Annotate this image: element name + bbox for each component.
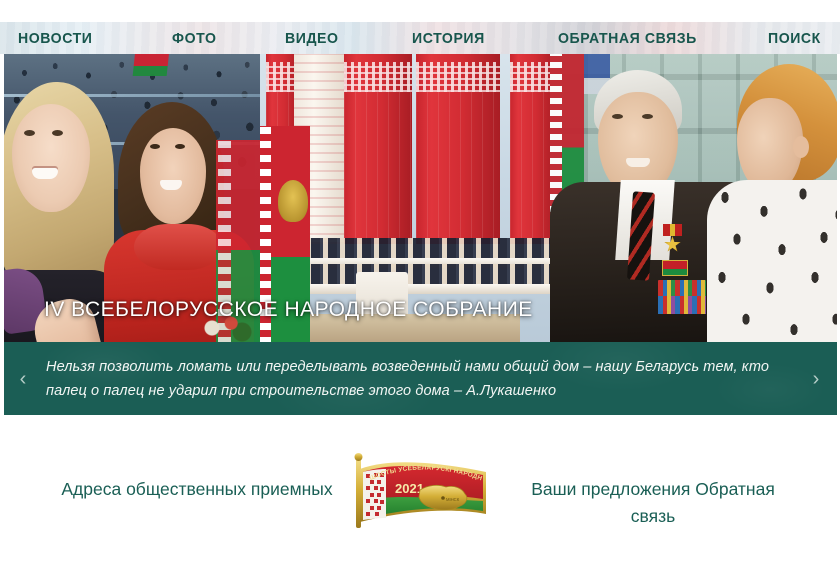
patterned-blouse [707,180,837,344]
eye-right [175,144,185,149]
red-collar [134,224,222,270]
badge-capital-label: МІНСК [446,497,460,502]
nav-item-photo[interactable]: ФОТО [172,30,216,47]
hero-star-ribbon [663,224,682,236]
nav-item-video[interactable]: ВИДЕО [285,30,339,47]
nav-item-history[interactable]: ИСТОРИЯ [412,30,485,47]
nav-item-search[interactable]: ПОИСК [768,30,821,47]
quote-text: Нельзя позволить ломать или переделывать… [46,355,794,403]
state-emblem-icon [278,180,308,222]
smile [626,158,650,167]
eye-left [612,114,623,119]
medal-ribbon-bar [658,296,706,314]
woman-figure [713,64,837,344]
public-reception-addresses-link[interactable]: Адреса общественных приемных [52,476,342,503]
all-belarusian-assembly-badge-icon[interactable]: ШОСТЫ УСЕБЕЛАРУСКІ НАРОДНЫ СХОД 2021 МІН… [346,452,494,530]
nav-item-news[interactable]: НОВОСТИ [18,30,92,47]
main-navigation: НОВОСТИ ФОТО ВИДЕО ИСТОРИЯ ОБРАТНАЯ СВЯЗ… [0,22,840,54]
chevron-right-icon[interactable]: › [805,368,827,390]
flag-lapel-badge-icon [662,260,688,276]
eye-right [52,130,63,136]
chevron-left-icon[interactable]: ‹ [12,368,34,390]
hero-photo-collage[interactable]: IV ВСЕБЕЛОРУССКОЕ НАРОДНОЕ СОБРАНИЕ [4,54,837,344]
quote-carousel: ‹ Нельзя позволить ломать или переделыва… [4,342,837,415]
hero-title: IV ВСЕБЕЛОРУССКОЕ НАРОДНОЕ СОБРАНИЕ [44,298,533,322]
face [140,128,206,224]
smile [32,168,58,179]
eye-left [24,130,35,136]
eye-right [642,114,653,119]
your-suggestions-feedback-link[interactable]: Ваши предложения Обратная связь [508,476,798,530]
ear [793,136,809,158]
red-ornament-column [416,54,500,244]
hero-panel-veteran [550,54,837,344]
red-ornament-column [510,54,550,244]
bottom-links-section: Адреса общественных приемных [0,440,840,577]
red-ornament-column [344,54,412,244]
nav-item-feedback[interactable]: ОБРАТНАЯ СВЯЗЬ [558,30,697,47]
face [12,104,90,212]
smile [160,180,182,190]
eye-left [150,144,160,149]
nav-items-container: НОВОСТИ ФОТО ВИДЕО ИСТОРИЯ ОБРАТНАЯ СВЯЗ… [0,22,840,54]
belarus-flag-decor-icon [133,54,170,76]
